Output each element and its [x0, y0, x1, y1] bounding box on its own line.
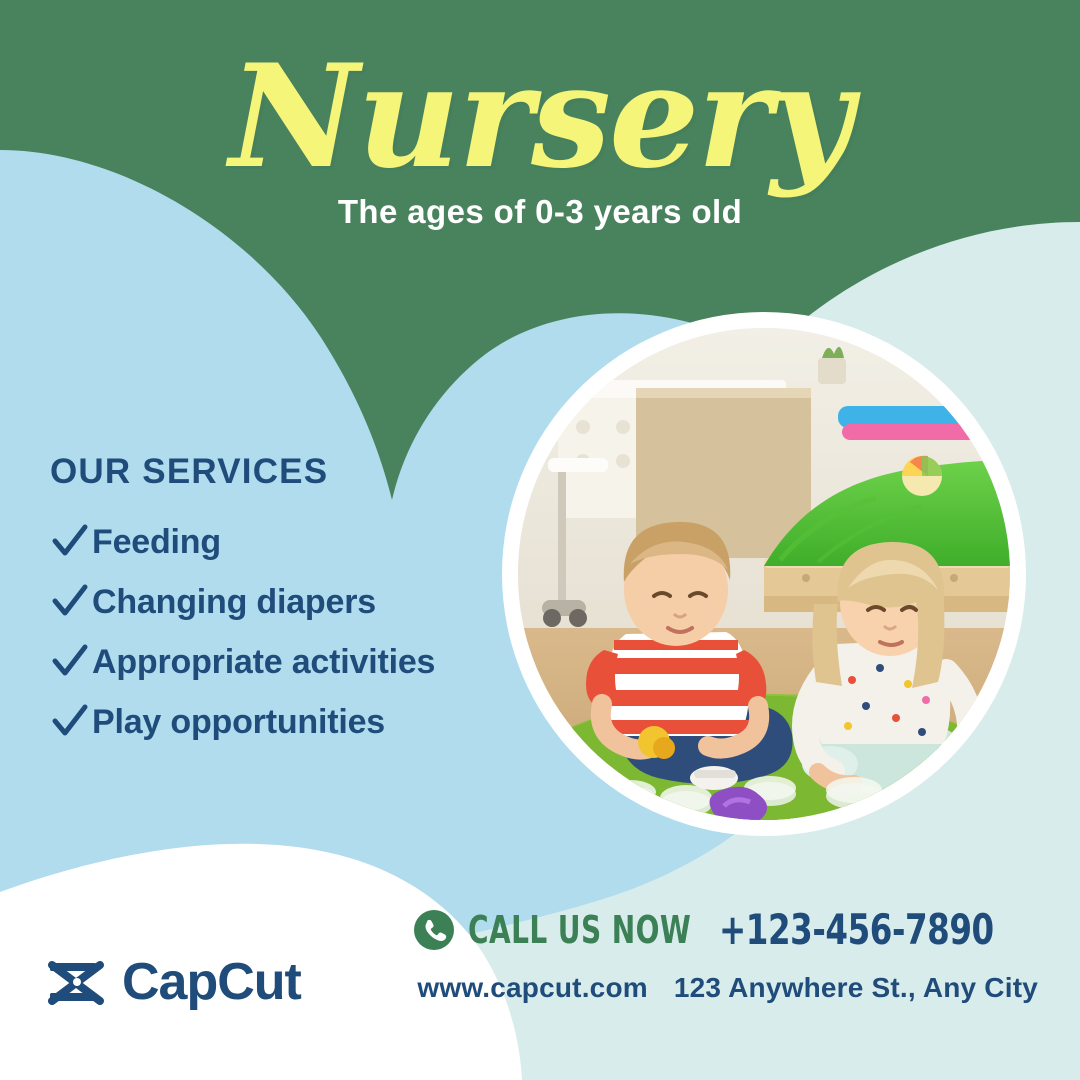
phone-icon: [414, 910, 454, 950]
website-link[interactable]: www.capcut.com: [417, 972, 647, 1004]
header-block: Nursery The ages of 0-3 years old: [0, 48, 1080, 231]
capcut-logo-text: CapCut: [122, 952, 301, 1012]
service-label: Appropriate activities: [92, 643, 435, 682]
check-icon: [48, 520, 92, 564]
service-label: Play opportunities: [92, 703, 385, 742]
services-section: OUR SERVICES Feeding Changing diapers: [48, 452, 518, 760]
check-icon: [48, 700, 92, 744]
address-text: 123 Anywhere St., Any City: [674, 972, 1038, 1004]
children-playing-photo: [502, 312, 1026, 836]
service-item: Appropriate activities: [48, 640, 518, 684]
info-row: www.capcut.com 123 Anywhere St., Any Cit…: [478, 972, 1038, 1004]
photo-clip: [518, 328, 1010, 820]
phone-number[interactable]: +123-456-7890: [719, 905, 994, 954]
call-row: CALL US NOW +123-456-7890: [478, 905, 1038, 954]
service-label: Changing diapers: [92, 583, 376, 622]
capcut-logo: CapCut: [48, 952, 301, 1012]
services-heading: OUR SERVICES: [50, 452, 518, 492]
page-subtitle: The ages of 0-3 years old: [0, 193, 1080, 231]
service-item: Play opportunities: [48, 700, 518, 744]
service-label: Feeding: [92, 523, 221, 562]
check-icon: [48, 640, 92, 684]
check-icon: [48, 580, 92, 624]
photo-illustration: [518, 328, 1010, 820]
page-title: Nursery: [0, 48, 1080, 187]
capcut-logo-icon: [48, 959, 106, 1005]
call-us-label: CALL US NOW: [468, 908, 691, 952]
service-item: Feeding: [48, 520, 518, 564]
nursery-poster: Nursery The ages of 0-3 years old: [0, 0, 1080, 1080]
contact-block: CALL US NOW +123-456-7890 www.capcut.com…: [478, 905, 1038, 1004]
service-item: Changing diapers: [48, 580, 518, 624]
